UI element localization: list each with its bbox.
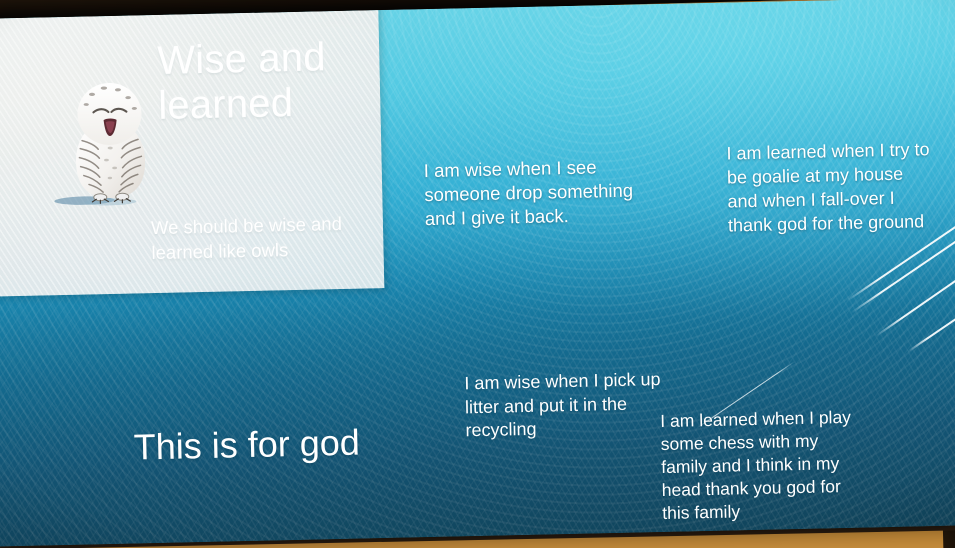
title-panel: Wise and learned We should be wise and l…	[0, 0, 384, 297]
display-screen: Wise and learned We should be wise and l…	[0, 0, 955, 546]
text-block-learned-1: I am learned when I try to be goalie at …	[726, 138, 933, 238]
slide-section-title: This is for god	[133, 419, 434, 469]
glare-streak-icon	[907, 278, 955, 352]
photo-frame: Wise and learned We should be wise and l…	[0, 0, 955, 548]
glare-streak-icon	[875, 235, 955, 337]
slide-title: Wise and learned	[157, 34, 369, 128]
text-block-learned-2: I am learned when I play some chess with…	[660, 406, 870, 525]
presentation-slide: Wise and learned We should be wise and l…	[0, 0, 955, 546]
text-block-wise-1: I am wise when I see someone drop someth…	[424, 154, 644, 231]
slide-subtitle: We should be wise and learned like owls	[151, 210, 372, 265]
snowy-owl-icon	[48, 77, 173, 212]
text-block-wise-2: I am wise when I pick up litter and put …	[464, 368, 665, 443]
owl-image	[48, 77, 173, 212]
